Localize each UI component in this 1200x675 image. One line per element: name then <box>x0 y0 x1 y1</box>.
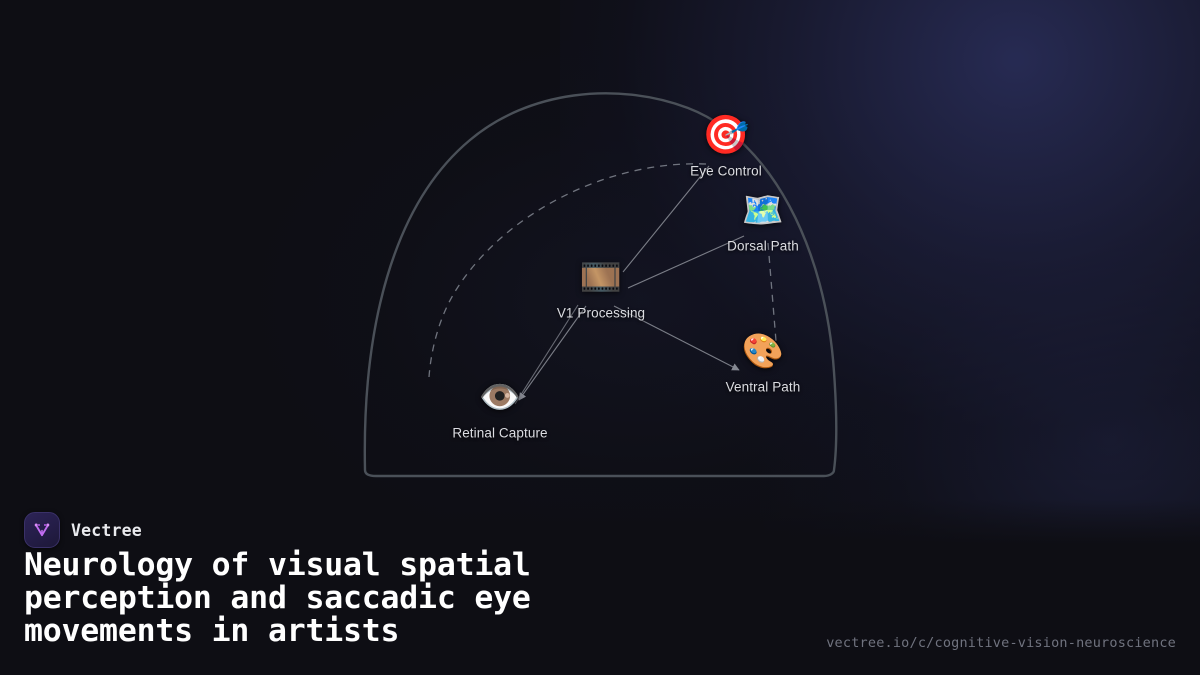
poster-canvas: 🎯 Eye Control 🗺️ Dorsal Path 🎞️ V1 Proce… <box>0 0 1200 675</box>
artist-palette-icon: 🎨 <box>742 330 784 374</box>
vectree-v-tree-logo-icon <box>32 520 52 540</box>
brand-name: Vectree <box>71 521 142 540</box>
graph-node-eye-control[interactable]: 🎯 Eye Control <box>690 114 762 179</box>
film-frames-icon: 🎞️ <box>580 256 622 300</box>
graph-node-label: V1 Processing <box>557 306 645 321</box>
world-map-icon: 🗺️ <box>742 189 784 233</box>
vectree-logo-badge <box>24 512 60 548</box>
graph-node-retinal-capture[interactable]: 👁️ Retinal Capture <box>452 376 547 441</box>
graph-node-label: Dorsal Path <box>727 239 799 254</box>
graph-node-label: Ventral Path <box>726 380 801 395</box>
graph-node-dorsal-path[interactable]: 🗺️ Dorsal Path <box>727 189 799 254</box>
graph-node-label: Eye Control <box>690 164 762 179</box>
eye-icon: 👁️ <box>479 376 521 420</box>
direct-hit-target-icon: 🎯 <box>702 114 749 158</box>
brand[interactable]: Vectree <box>24 512 142 548</box>
page-title: Neurology of visual spatial perception a… <box>24 549 704 648</box>
edge-dorsal-path-to-ventral-path[interactable] <box>768 243 776 341</box>
graph-node-label: Retinal Capture <box>452 426 547 441</box>
graph-node-ventral-path[interactable]: 🎨 Ventral Path <box>726 330 801 395</box>
graph-node-v1-processing[interactable]: 🎞️ V1 Processing <box>557 256 645 321</box>
source-url: vectree.io/c/cognitive-vision-neuroscien… <box>826 635 1176 651</box>
